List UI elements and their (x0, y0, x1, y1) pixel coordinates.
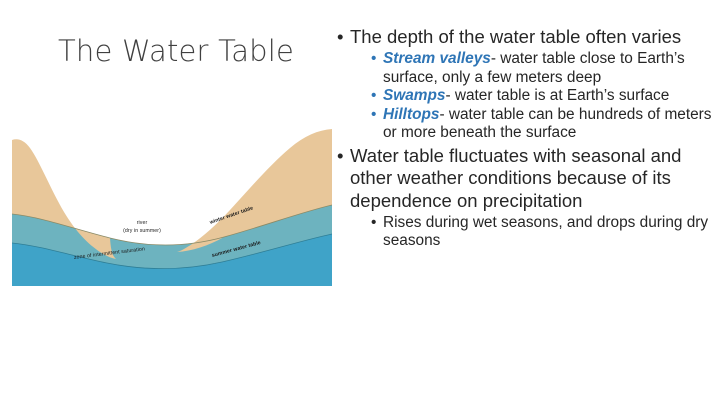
bullet-glyph-icon: • (337, 145, 343, 167)
bullet-list-level2: • Stream valleys- water table close to E… (350, 50, 716, 142)
bullet-text: Water table fluctuates with seasonal and… (350, 145, 716, 212)
term-swamps: Swamps (383, 87, 445, 104)
term-stream-valleys: Stream valleys (383, 50, 491, 67)
sub-bullet-hilltops: • Hilltops- water table can be hundreds … (371, 106, 716, 143)
bullet-text: The depth of the water table often varie… (350, 26, 716, 48)
sub-bullet-text: - water table is at Earth’s surface (445, 87, 669, 104)
river-label-line2: (dry in summer) (123, 228, 161, 234)
river-label-line1: river (137, 220, 148, 226)
sub-bullet-stream-valleys: • Stream valleys- water table close to E… (371, 50, 716, 87)
water-table-diagram: river (dry in summer) winter water table… (12, 126, 332, 286)
bullet-item-fluctuates: • Water table fluctuates with seasonal a… (336, 145, 716, 251)
bullet-list-level1: • The depth of the water table often var… (336, 26, 716, 251)
sub-bullet-glyph-icon: • (371, 87, 376, 105)
sub-bullet-swamps: • Swamps- water table is at Earth’s surf… (371, 87, 716, 105)
body-content: • The depth of the water table often var… (336, 26, 716, 253)
cross-section-svg (12, 126, 332, 286)
bullet-item-depth-varies: • The depth of the water table often var… (336, 26, 716, 143)
bullet-glyph-icon: • (337, 26, 343, 48)
slide-canvas: The Water Table river (dry in summer) wi… (0, 0, 720, 404)
diagram-label-river: river (dry in summer) (112, 220, 172, 235)
sub-bullet-text: Rises during wet seasons, and drops duri… (383, 214, 708, 249)
sub-bullet-glyph-icon: • (371, 50, 376, 68)
bullet-list-level2: • Rises during wet seasons, and drops du… (350, 214, 716, 251)
page-title: The Water Table (58, 36, 318, 68)
sub-bullet-rises-drops: • Rises during wet seasons, and drops du… (371, 214, 716, 251)
term-hilltops: Hilltops (383, 106, 439, 123)
sub-bullet-glyph-icon: • (371, 106, 376, 124)
sub-bullet-glyph-icon: • (371, 214, 376, 232)
